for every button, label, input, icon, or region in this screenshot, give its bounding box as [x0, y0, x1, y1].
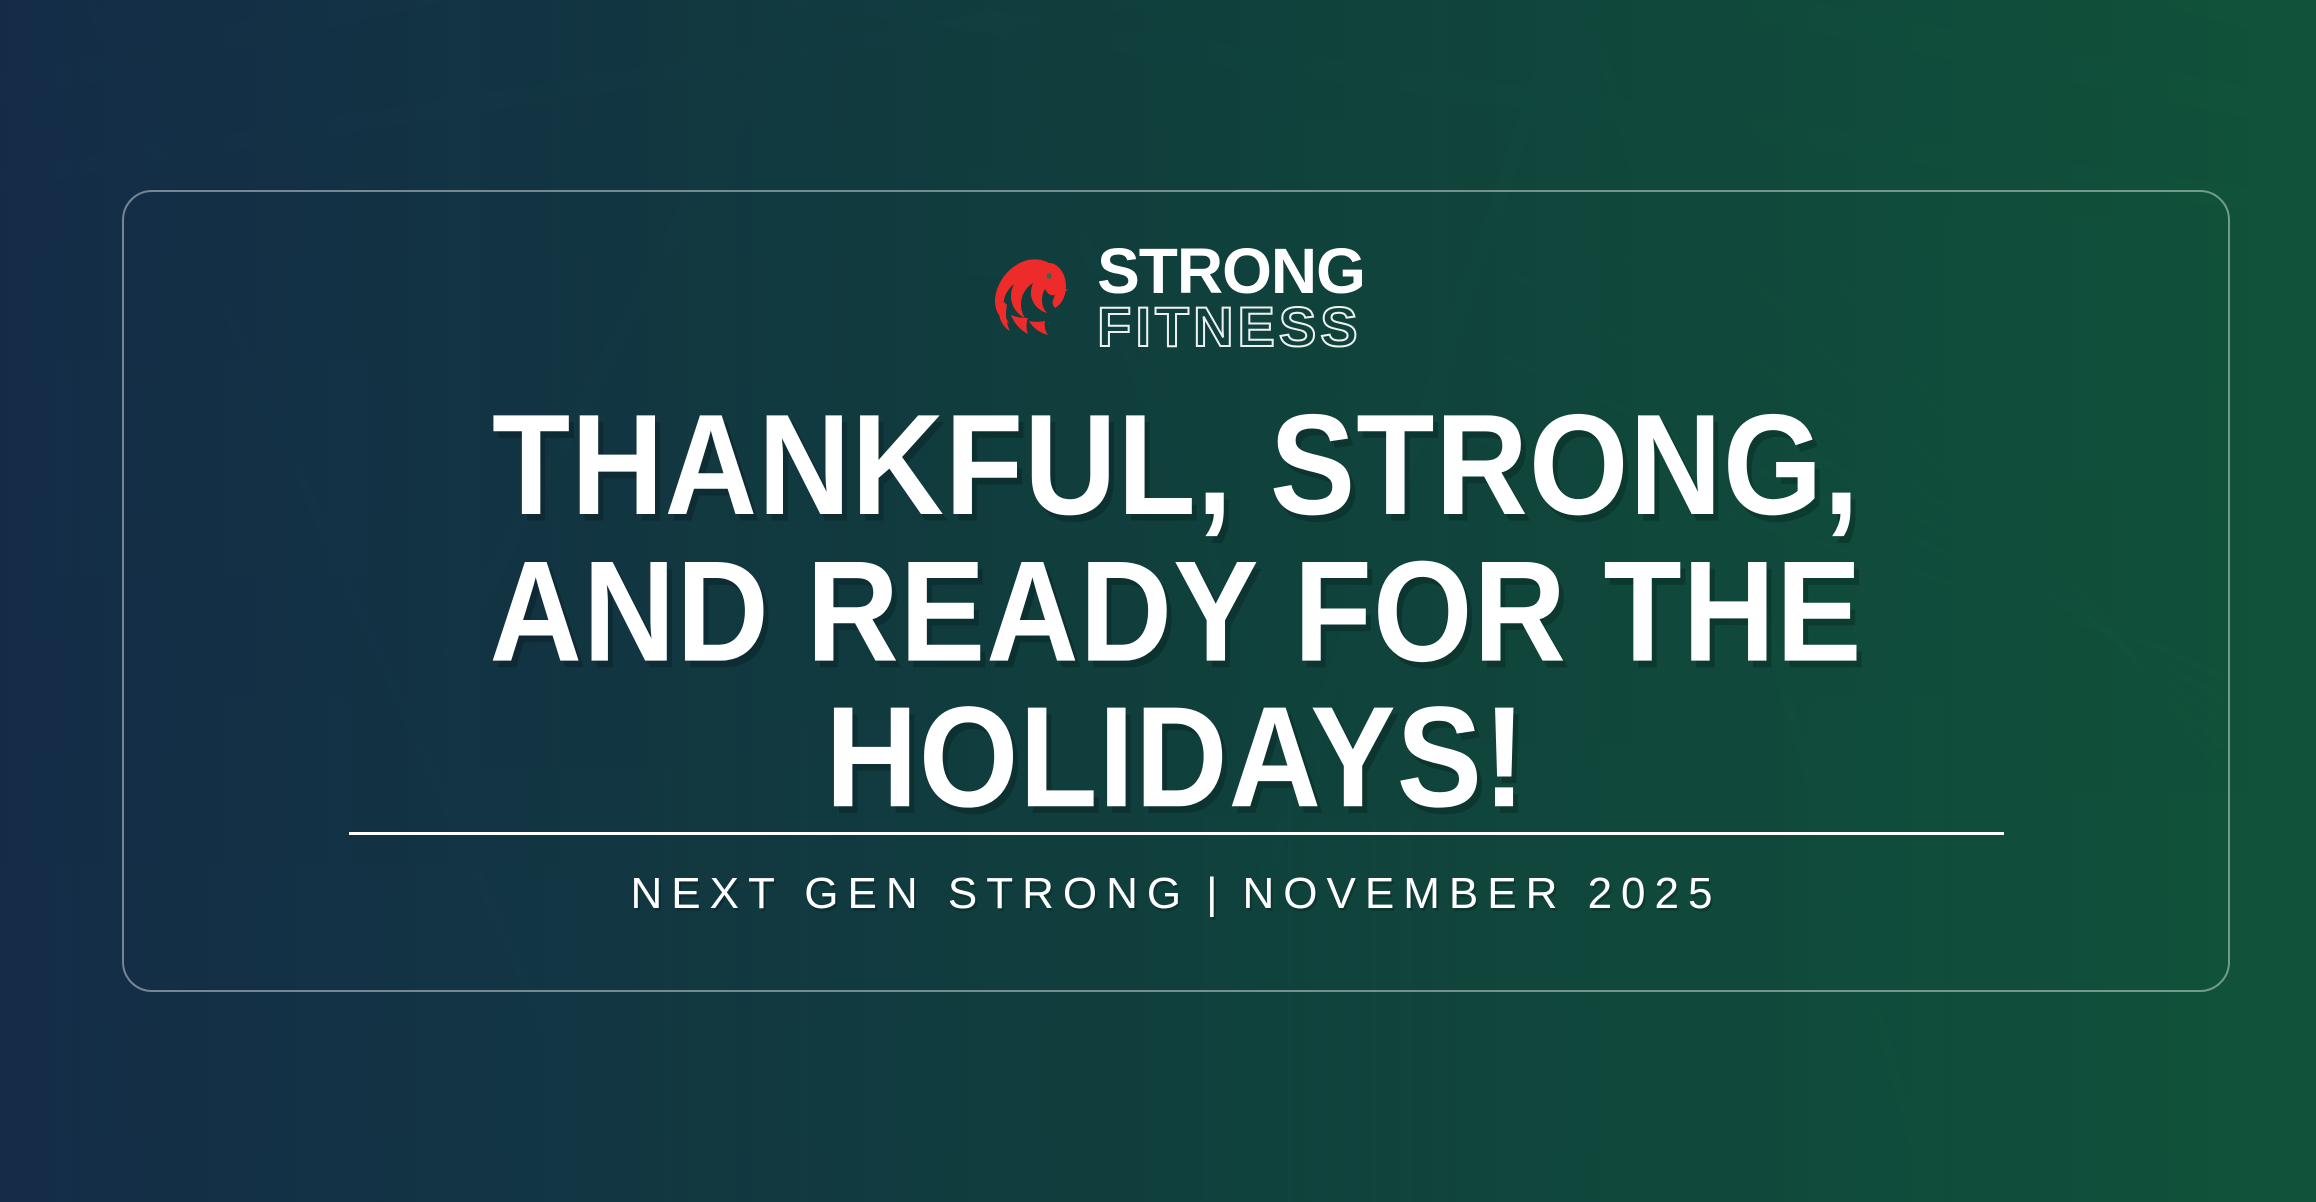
subtitle: NEXT GEN STRONG|NOVEMBER 2025 [631, 869, 1722, 919]
brand-logo: STRONG FITNESS [987, 242, 1365, 355]
promo-banner: STRONG FITNESS THANKFUL, STRONG, AND REA… [0, 0, 2316, 1202]
headline-line-1: THANKFUL, STRONG, [490, 393, 1863, 539]
lion-head-icon [987, 249, 1083, 347]
banner-content: STRONG FITNESS THANKFUL, STRONG, AND REA… [122, 190, 2230, 992]
headline-line-3: HOLIDAYS! [490, 685, 1863, 831]
brand-wordmark: STRONG FITNESS [1097, 242, 1365, 355]
subtitle-separator: | [1190, 869, 1242, 918]
subtitle-date: NOVEMBER 2025 [1243, 869, 1722, 918]
brand-name-secondary: FITNESS [1097, 299, 1365, 355]
headline: THANKFUL, STRONG, AND READY FOR THE HOLI… [490, 393, 1863, 832]
brand-name-primary: STRONG [1097, 242, 1365, 301]
subtitle-program: NEXT GEN STRONG [631, 869, 1191, 918]
headline-line-2: AND READY FOR THE [490, 539, 1863, 685]
